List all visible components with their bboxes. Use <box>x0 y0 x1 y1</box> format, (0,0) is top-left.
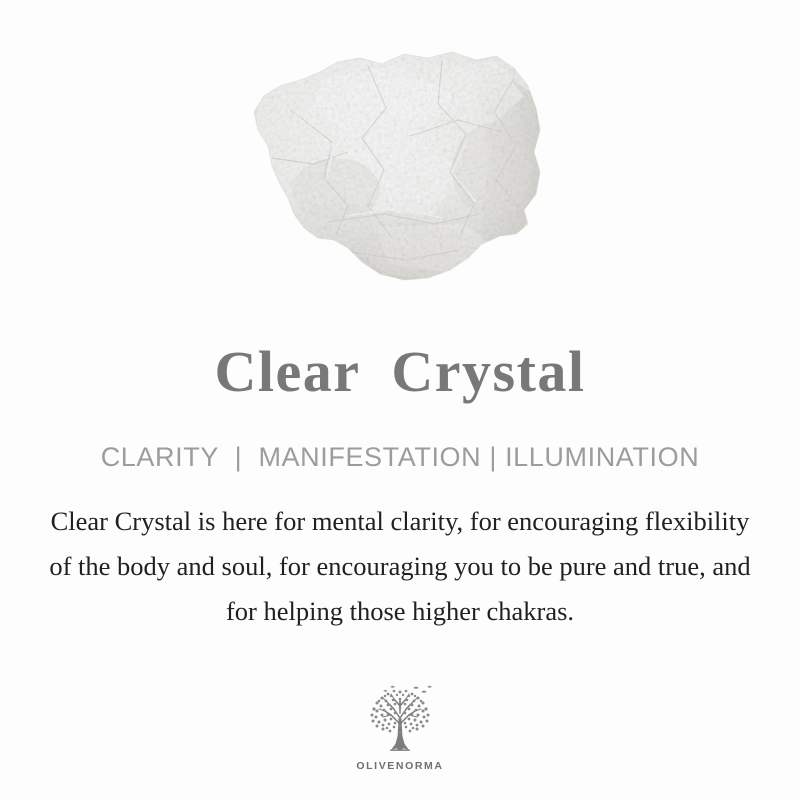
brand-logo: OLIVENORMA <box>340 684 460 772</box>
tree-of-life-icon <box>357 684 443 758</box>
brand-name: OLIVENORMA <box>356 760 443 772</box>
raw-clear-quartz-crystal-icon <box>228 38 558 298</box>
product-attributes-line: CLARITY | MANIFESTATION | ILLUMINATION <box>0 441 800 473</box>
product-info-card: Clear Crystal CLARITY | MANIFESTATION | … <box>0 0 800 800</box>
product-image-area <box>0 0 800 320</box>
crystal-product-image <box>228 38 558 298</box>
product-description: Clear Crystal is here for mental clarity… <box>44 499 756 634</box>
product-title: Clear Crystal <box>0 341 800 403</box>
crystal-grain-coarse <box>228 38 558 298</box>
tree-birds <box>383 686 432 693</box>
